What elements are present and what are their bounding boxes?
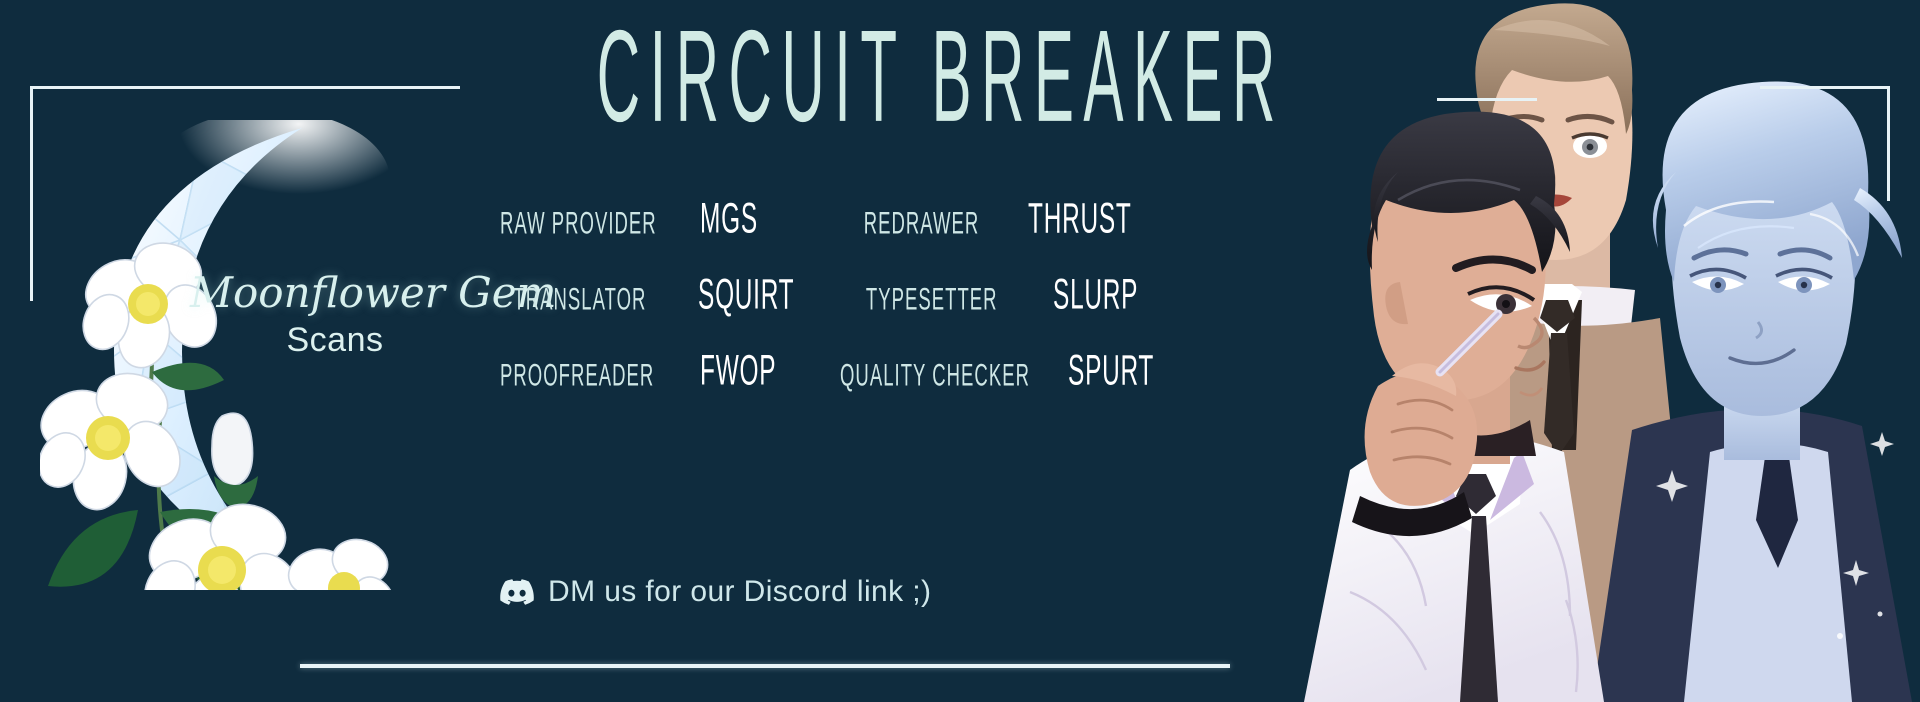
credit-raw-provider: RAW PROVIDER MGS bbox=[500, 205, 840, 243]
credit-proofreader: PROOFREADER FWOP bbox=[500, 357, 840, 395]
credit-value: SQUIRT bbox=[664, 270, 794, 319]
credits-row: PROOFREADER FWOP QUALITY CHECKER SPURT bbox=[500, 357, 1180, 433]
discord-invite[interactable]: DM us for our Discord link ;) bbox=[500, 575, 931, 609]
title-dash-right bbox=[1437, 98, 1537, 101]
credit-label: QUALITY CHECKER bbox=[840, 358, 1009, 394]
credit-typesetter: TYPESETTER SLURP bbox=[840, 281, 1180, 319]
discord-text: DM us for our Discord link ;) bbox=[548, 575, 931, 609]
discord-icon bbox=[500, 579, 534, 605]
credit-value: SPURT bbox=[1034, 346, 1154, 395]
page-title: CIRCUIT BREAKER bbox=[390, 18, 1170, 138]
credit-quality-checker: QUALITY CHECKER SPURT bbox=[840, 357, 1180, 395]
moonflower-logo: Moonflower Gem Scans bbox=[40, 120, 470, 590]
credit-value: MGS bbox=[666, 194, 758, 243]
credit-label: REDRAWER bbox=[840, 206, 979, 242]
credit-label: TRANSLATOR bbox=[500, 282, 646, 318]
page-title-text: CIRCUIT BREAKER bbox=[597, 17, 964, 137]
credit-redrawer: REDRAWER THRUST bbox=[840, 205, 1180, 243]
credit-value: SLURP bbox=[1019, 270, 1138, 319]
credit-label: TYPESETTER bbox=[840, 282, 998, 318]
credit-label: RAW PROVIDER bbox=[500, 206, 648, 242]
credit-label: PROOFREADER bbox=[500, 358, 648, 394]
credit-translator: TRANSLATOR SQUIRT bbox=[500, 281, 840, 319]
credits-banner: CIRCUIT BREAKER bbox=[0, 0, 1920, 702]
moonflower-cluster bbox=[40, 235, 403, 590]
credits-table: RAW PROVIDER MGS REDRAWER THRUST TRANSLA… bbox=[500, 205, 1180, 433]
credit-value: FWOP bbox=[666, 346, 776, 395]
frame-corner-right bbox=[1760, 86, 1890, 201]
bottom-divider bbox=[300, 664, 1230, 668]
credit-value: THRUST bbox=[994, 194, 1132, 243]
